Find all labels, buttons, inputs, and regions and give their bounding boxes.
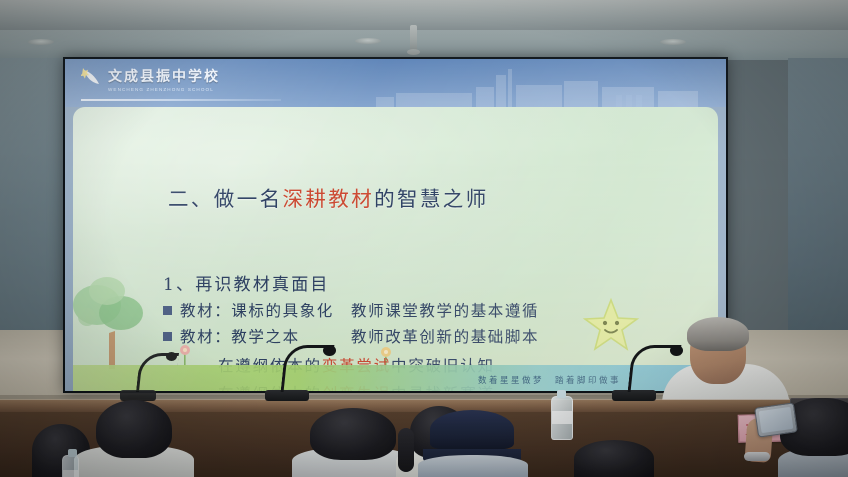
school-emblem-icon xyxy=(81,66,103,92)
heading-prefix: 二、做一名 xyxy=(168,187,283,211)
school-name-cn: 文成县振中学校 xyxy=(108,66,220,86)
bullet-square-icon xyxy=(163,332,172,341)
slide-heading: 二、做一名深耕教材的智慧之师 xyxy=(168,182,489,212)
slide-bullet: 教材：教学之本 教师改革创新的基础脚本 xyxy=(163,325,539,347)
audience-member xyxy=(74,400,194,477)
wristwatch-icon xyxy=(744,452,770,461)
bullet-square-icon xyxy=(163,306,172,315)
smartphone-icon xyxy=(754,402,798,437)
heading-highlight: 深耕教材 xyxy=(283,187,375,211)
speaker-hair xyxy=(687,317,749,351)
downlight-icon xyxy=(28,39,54,45)
slide-footer-motto: 数着星星做梦 踏着脚印做事 xyxy=(478,374,621,386)
bullet-text: 教材：教学之本 教师改革创新的基础脚本 xyxy=(180,325,539,347)
projection-screen-frame: 文成县振中学校 WENCHENG ZHENZHONG SCHOOL xyxy=(63,57,728,393)
bullet-text: 教材：课标的具象化 教师课堂教学的基本遵循 xyxy=(180,299,539,321)
slide-subheading: 1、再识教材真面目 xyxy=(163,270,330,295)
school-name-en: WENCHENG ZHENZHONG SCHOOL xyxy=(108,87,220,92)
lecture-hall-photo: 文成县振中学校 WENCHENG ZHENZHONG SCHOOL xyxy=(0,0,848,477)
sprinkler-icon xyxy=(410,25,417,51)
slide-header: 文成县振中学校 WENCHENG ZHENZHONG SCHOOL xyxy=(65,59,726,107)
microphone-icon xyxy=(612,345,682,401)
downlight-icon xyxy=(660,39,686,45)
downlight-icon xyxy=(355,38,381,44)
ceiling-upper xyxy=(0,0,848,30)
water-bottle-icon xyxy=(62,455,79,477)
ponytail xyxy=(398,428,414,472)
water-bottle-icon xyxy=(551,396,573,440)
ceiling-lower xyxy=(0,30,848,60)
microphone-icon xyxy=(265,345,335,401)
microphone-icon xyxy=(120,352,180,401)
audience-member xyxy=(566,440,662,477)
projected-slide: 文成县振中学校 WENCHENG ZHENZHONG SCHOOL xyxy=(65,59,726,391)
heading-suffix: 的智慧之师 xyxy=(374,187,489,211)
audience-member-cap-body xyxy=(418,455,528,477)
school-logo: 文成县振中学校 WENCHENG ZHENZHONG SCHOOL xyxy=(81,66,220,92)
logo-underline xyxy=(81,99,281,101)
slide-bullet: 教材：课标的具象化 教师课堂教学的基本遵循 xyxy=(163,299,539,321)
campus-silhouette-icon xyxy=(376,67,706,107)
